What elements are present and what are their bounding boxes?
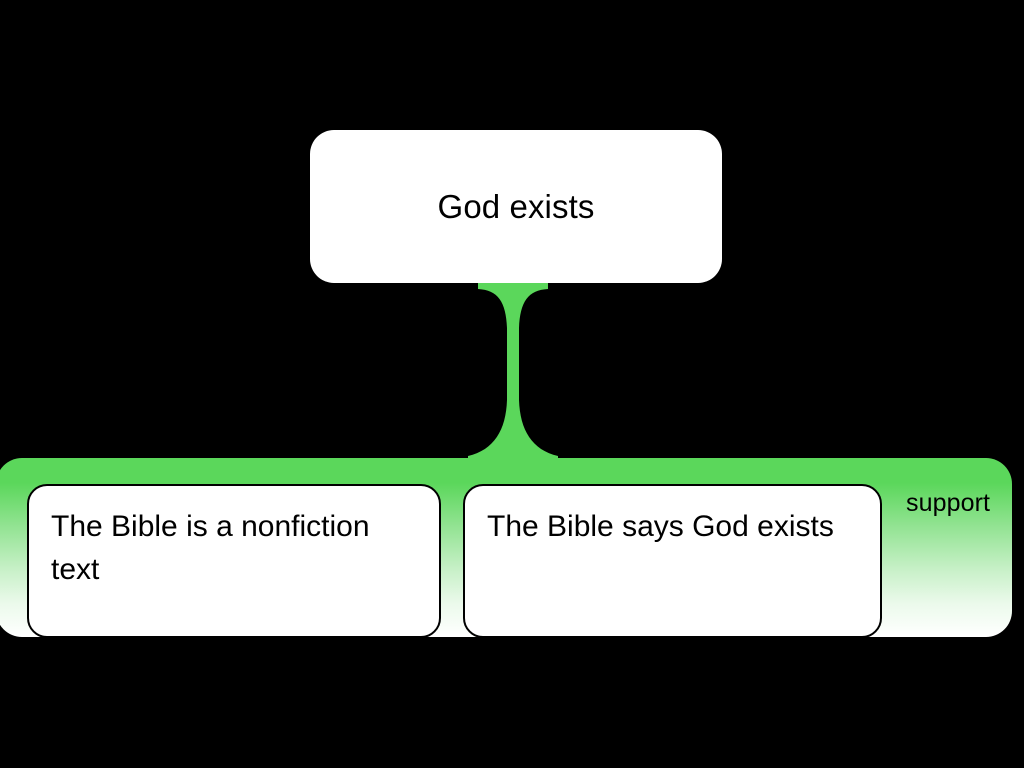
claim-node-god-exists[interactable]: God exists xyxy=(310,130,722,283)
reason-box-2[interactable]: The Bible says God exists xyxy=(463,484,882,638)
reason-box-1[interactable]: The Bible is a nonfiction text xyxy=(27,484,441,638)
claim-node-label: God exists xyxy=(438,188,595,226)
support-group-label: support xyxy=(906,489,990,518)
reason-box-1-label: The Bible is a nonfiction text xyxy=(51,506,421,591)
reason-box-2-label: The Bible says God exists xyxy=(487,506,834,549)
support-connector[interactable] xyxy=(466,280,560,462)
support-connector-icon xyxy=(466,280,560,462)
diagram-canvas: God exists support The Bible is a nonfic… xyxy=(0,0,1024,768)
